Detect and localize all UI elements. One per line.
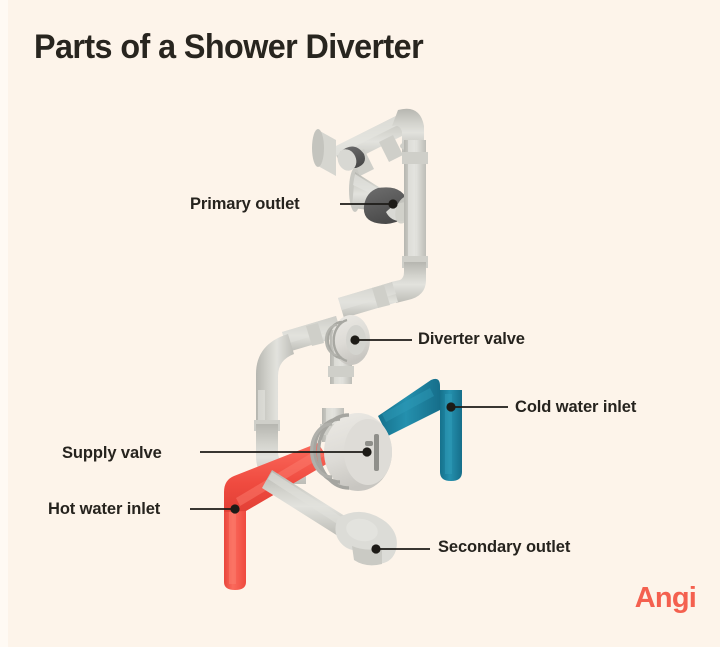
tub-spout (335, 512, 396, 565)
angi-brand-logo: Angi (635, 582, 696, 615)
leader-dot-supply-valve (362, 447, 371, 456)
diverter-branch-pipe (338, 282, 398, 318)
diverter-valve[interactable] (326, 315, 370, 384)
infographic-canvas: Parts of a Shower Diverter (0, 0, 720, 647)
supply-valve[interactable] (312, 408, 392, 491)
leader-dot-primary-outlet (388, 199, 397, 208)
leader-dot-diverter-valve (350, 335, 359, 344)
label-supply-valve: Supply valve (62, 444, 162, 463)
shower-wall-flange (312, 129, 336, 176)
shower-diverter-illustration (0, 0, 720, 647)
label-hot-water-inlet: Hot water inlet (48, 500, 160, 519)
label-secondary-outlet: Secondary outlet (438, 538, 570, 557)
label-diverter-valve: Diverter valve (418, 330, 525, 349)
leader-dot-cold-water-inlet (446, 402, 455, 411)
leader-dot-secondary-outlet (371, 544, 380, 553)
label-primary-outlet: Primary outlet (190, 195, 300, 214)
leader-dot-hot-water-inlet (230, 504, 239, 513)
vertical-riser-pipe (402, 140, 428, 268)
cold-water-inlet-pipe (378, 379, 462, 481)
label-cold-water-inlet: Cold water inlet (515, 398, 636, 417)
